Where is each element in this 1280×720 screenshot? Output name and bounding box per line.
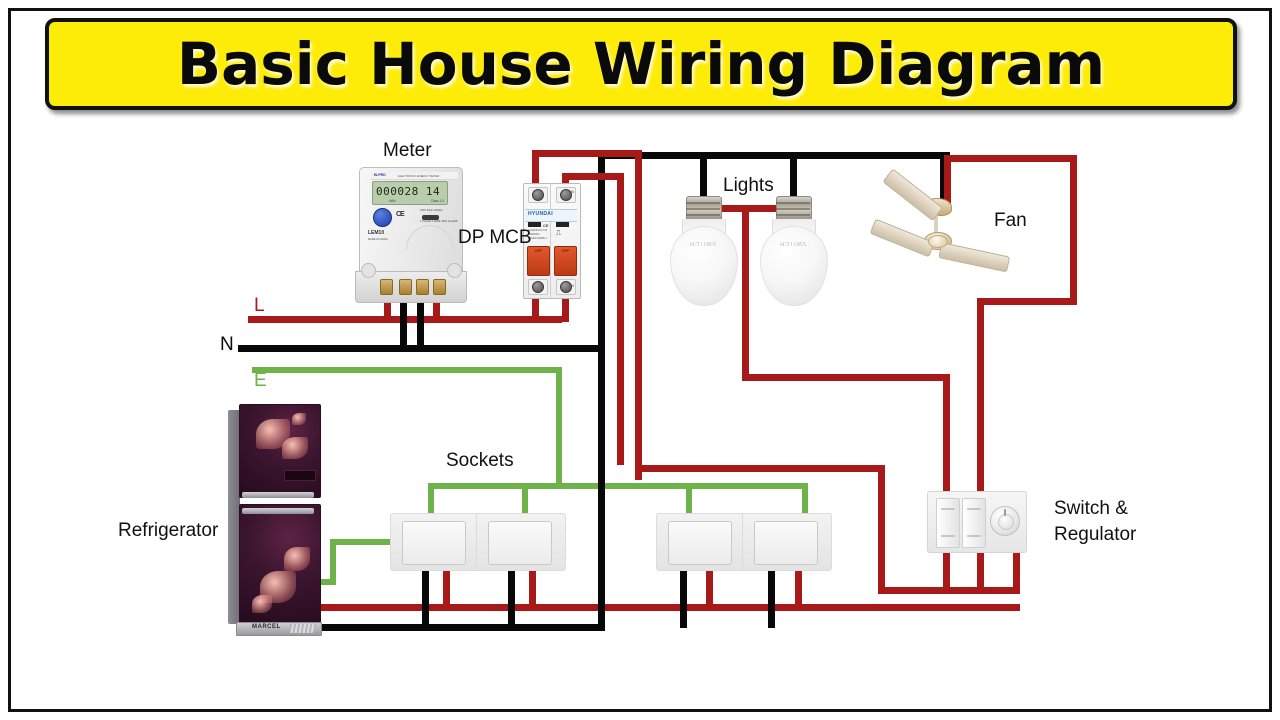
meter-terminal-2 [399, 279, 412, 295]
title-banner: Basic House Wiring Diagram [45, 18, 1237, 110]
page-title: Basic House Wiring Diagram [177, 30, 1105, 98]
wire-live-switch-feed-2 [977, 298, 984, 496]
wire-live-right-drop [878, 465, 885, 593]
wire-live-bulb-drop [742, 205, 749, 380]
meter-terminal-3 [416, 279, 429, 295]
fan-label: Fan [994, 210, 1027, 232]
fridge-handle-top[interactable] [242, 492, 314, 498]
meter-spec-2: 1 PHASE 2 WIRE 1600 imp/kWh [420, 220, 460, 223]
bulb-glass-1 [670, 226, 738, 306]
meter-mount-left [361, 263, 376, 278]
bulb-thread-2a [776, 202, 810, 204]
mcb-label-block-2 [556, 222, 569, 227]
mcb-divider [550, 183, 551, 297]
mcb-brand: HYUNDAI [528, 211, 553, 217]
fridge-brand: MARCEL [252, 624, 281, 630]
wire-meter-to-mcb-bottom [433, 316, 562, 323]
wire-live-fan-return [977, 298, 1077, 305]
wire-live-mid-right [635, 465, 885, 472]
mcb-lever-right-label: OFF [555, 248, 576, 253]
fan-blade-3 [870, 219, 935, 258]
wall-switch-1-mark-top [941, 508, 955, 510]
meter-display-value: 000028 14 [376, 185, 440, 198]
light-bulb-1: SWITCH [670, 196, 736, 304]
bulb-thread-2b [776, 208, 810, 210]
bulb-thread-1b [686, 208, 720, 210]
sockets-label: Sockets [446, 450, 514, 472]
mcb-lever-left[interactable]: OFF [527, 246, 550, 276]
fan-regulator-knob-inner [998, 514, 1014, 530]
wire-neutral-label-run [222, 345, 404, 352]
wire-live-incoming-corner [248, 316, 255, 323]
fan-regulator-pointer [1004, 509, 1006, 516]
meter-display-unit: kWh [389, 199, 395, 203]
wire-live-fan-right-drop [1070, 155, 1077, 305]
socket-1-face[interactable] [402, 521, 466, 565]
socket-3[interactable] [656, 513, 746, 571]
fridge-flower-2 [282, 437, 308, 459]
fridge-main-door [239, 504, 321, 626]
fan-regulator-knob[interactable] [990, 506, 1020, 536]
wire-neutral-horizontal-left [400, 345, 605, 352]
lights-label: Lights [720, 175, 777, 197]
ceiling-fan [880, 198, 1000, 288]
mcb-symbol: ⎍ [556, 230, 561, 238]
wire-live-fan-top [944, 155, 1077, 162]
switch-regulator-label-line2: Regulator [1054, 524, 1136, 546]
fridge-flower-5 [284, 547, 310, 571]
meter-model: LEM10 [368, 230, 384, 236]
socket-1[interactable] [390, 513, 480, 571]
wire-live-switch-return-3 [1013, 548, 1020, 594]
fridge-handle-bottom[interactable] [242, 508, 314, 514]
wall-switch-2[interactable] [962, 498, 986, 548]
mcb-neutral-mark-bottom: N [571, 283, 574, 288]
fan-hub-cap [928, 235, 948, 248]
wall-switch-1[interactable] [936, 498, 960, 548]
bulb-thread-1a [686, 202, 720, 204]
switch-regulator-panel[interactable] [927, 491, 1027, 553]
meter-barcode [422, 215, 439, 220]
wire-live-switch-return-1 [943, 548, 950, 594]
socket-3-face[interactable] [668, 521, 732, 565]
light-bulb-2: SWITCH [760, 196, 826, 304]
meter-button[interactable] [373, 208, 392, 227]
meter-label: Meter [383, 140, 432, 162]
wire-mcb-top-loop-inner [562, 173, 624, 180]
meter-brand: ELPRO [374, 173, 386, 177]
bulb-brand-1: SWITCH [682, 240, 724, 246]
wire-live-bottom-bus [308, 604, 1020, 611]
fridge-vent [290, 624, 316, 633]
meter-footer: MADE IN CHINA [368, 238, 404, 241]
wiring-diagram-page: Basic House Wiring Diagram [0, 0, 1280, 720]
meter-mount-right [447, 263, 462, 278]
refrigerator: MARCEL [228, 404, 320, 632]
socket-4-face[interactable] [754, 521, 818, 565]
mcb-screw-bottom-left [532, 281, 544, 293]
meter-terminal-1 [380, 279, 393, 295]
switch-regulator-label-line1: Switch & [1054, 498, 1128, 520]
wire-earth-main [252, 367, 562, 373]
mcb-screw-top-left [532, 189, 544, 201]
meter-lcd: 000028 14 kWh Class 1.0 [372, 181, 448, 205]
earth-wire-label: E [254, 370, 267, 392]
wall-switch-1-mark-bottom [941, 535, 955, 537]
wire-neutral-bottom-riser [598, 352, 605, 631]
wall-switch-2-mark-bottom [967, 535, 981, 537]
bulb-brand-2: SWITCH [772, 240, 814, 246]
wire-neutral-bottom-bus [308, 624, 600, 631]
socket-2[interactable] [476, 513, 566, 571]
wire-live-bulb-to-switch [742, 374, 950, 381]
wire-live-switch-feed-1 [943, 374, 950, 496]
wall-switch-2-mark-top [967, 508, 981, 510]
dp-mcb-label: DP MCB [458, 227, 532, 249]
bulb-glass-2 [760, 226, 828, 306]
wire-neutral-vertical-main [598, 152, 605, 352]
fridge-flower-6 [252, 595, 272, 613]
wire-live-vertical-inner [617, 173, 624, 465]
meter-ce-mark: CE [396, 211, 404, 218]
mcb-neutral-mark-top: N [571, 189, 574, 194]
wire-live-switch-return-2 [977, 548, 984, 594]
meter-brand-subtitle: ELECTRONIC ENERGY METER [398, 174, 439, 178]
meter-spec-1: 230V 50Hz 10(60)A [420, 209, 443, 212]
mcb-lever-right[interactable]: OFF [554, 246, 577, 276]
fan-blade-2 [938, 242, 1010, 272]
wire-earth-bus [428, 483, 808, 489]
wire-live-vertical-outer [635, 150, 642, 480]
meter-terminal-4 [433, 279, 446, 295]
fridge-freezer-door [239, 404, 321, 498]
meter-arc-decor [406, 225, 454, 250]
bulb-thread-2c [776, 214, 810, 216]
bulb-thread-1c [686, 214, 720, 216]
meter-display-class: Class 1.0 [431, 199, 444, 203]
fridge-control-panel[interactable] [284, 470, 316, 481]
wire-mcb-top-loop-outer [532, 150, 642, 157]
wire-earth-drop [556, 367, 562, 487]
socket-2-face[interactable] [488, 521, 552, 565]
live-wire-label: L [254, 295, 265, 317]
socket-4[interactable] [742, 513, 832, 571]
energy-meter: ELPRO ELECTRONIC ENERGY METER 000028 14 … [355, 167, 467, 307]
refrigerator-label: Refrigerator [118, 520, 218, 542]
neutral-wire-label: N [216, 334, 238, 356]
fridge-flower-3 [292, 413, 306, 425]
mcb-ce-mark: CE [543, 223, 549, 228]
wire-neutral-top-bus [598, 152, 950, 159]
